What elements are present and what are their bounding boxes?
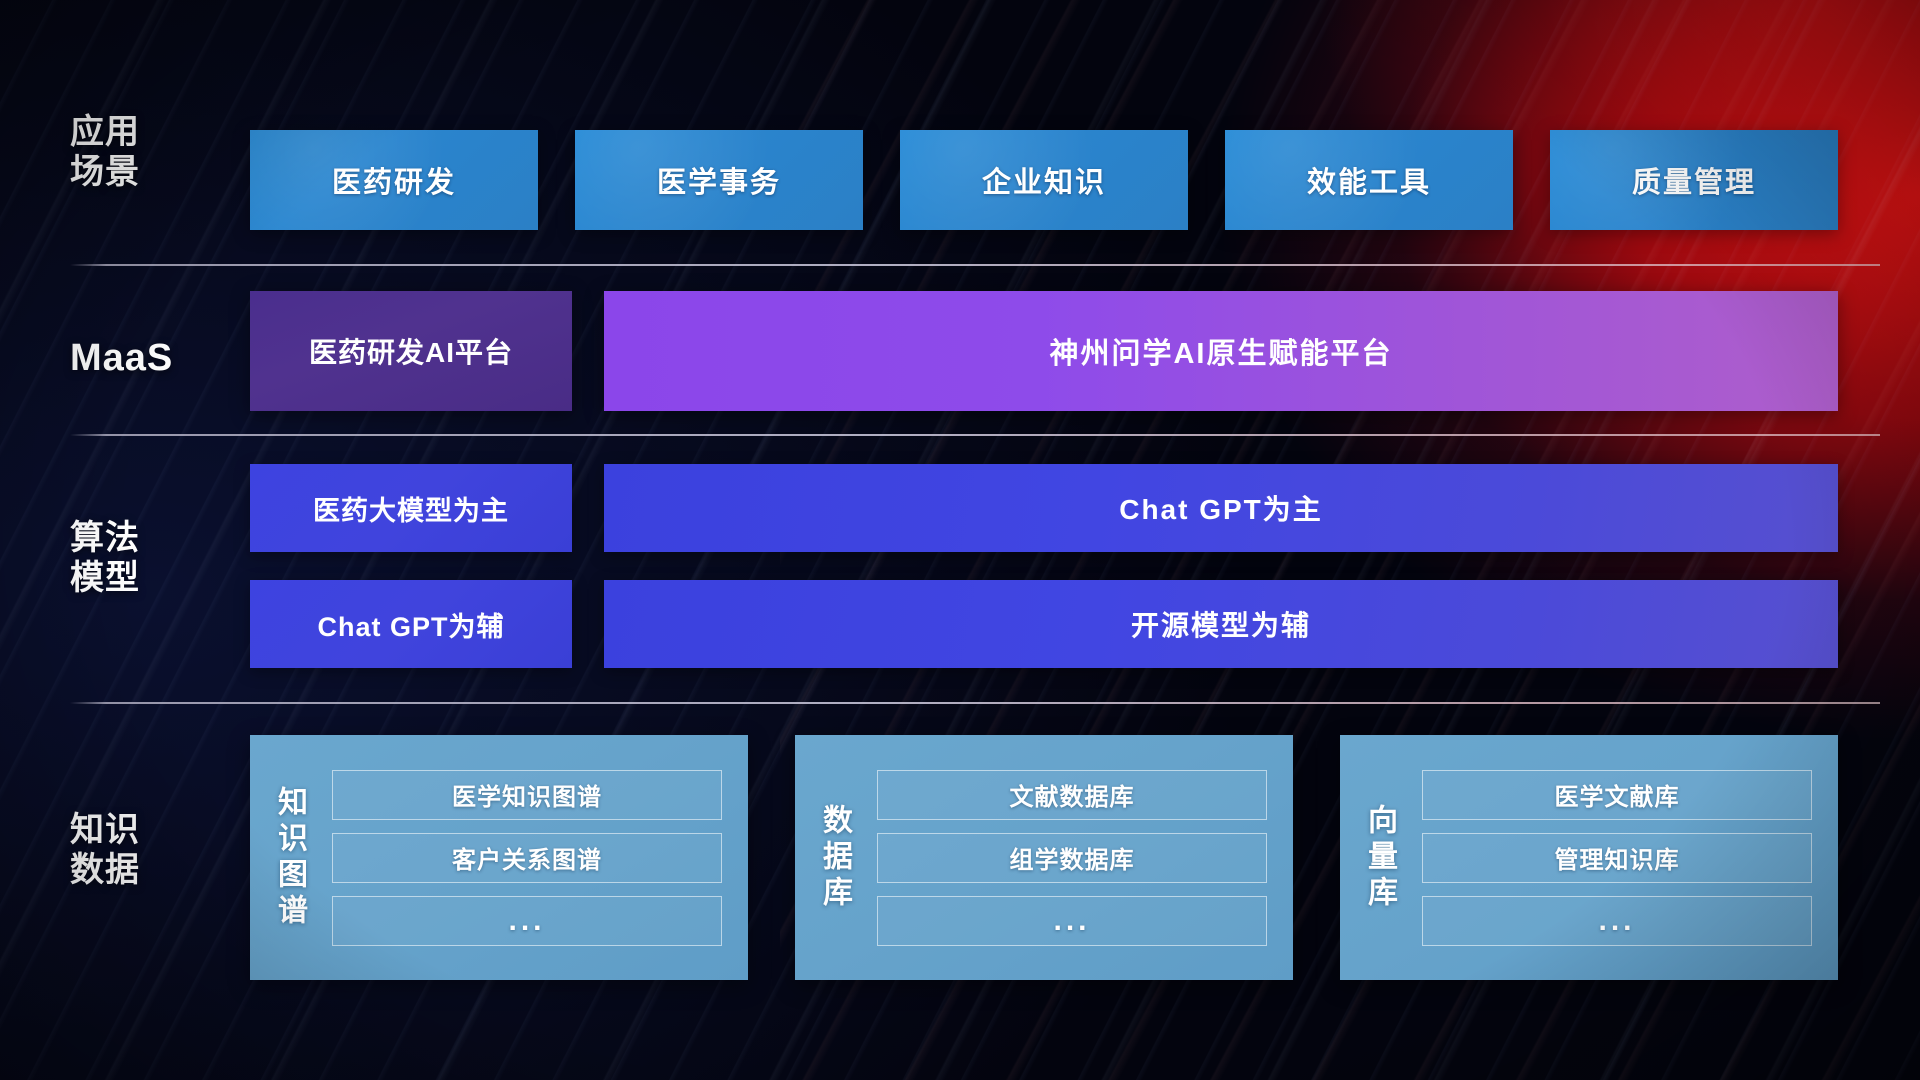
- algorithm-row1-left-card[interactable]: 医药大模型为主: [250, 464, 572, 552]
- application-card-2-label: 医学事务: [657, 159, 781, 201]
- layer-label-algorithm: 算法 模型: [70, 518, 220, 598]
- knowledge-card-vector-title: 向量库: [1340, 804, 1418, 912]
- knowledge-card-graph-items: 医学知识图谱 客户关系图谱 ...: [328, 752, 748, 964]
- application-card-3[interactable]: 企业知识: [900, 130, 1188, 230]
- knowledge-item-more[interactable]: ...: [1422, 896, 1812, 946]
- layer-label-line2: 场景: [70, 152, 220, 192]
- layer-label-application: 应用 场景: [70, 112, 220, 192]
- knowledge-item[interactable]: 客户关系图谱: [332, 833, 722, 883]
- knowledge-item[interactable]: 管理知识库: [1422, 833, 1812, 883]
- knowledge-item-more[interactable]: ...: [332, 896, 722, 946]
- maas-left-card-label: 医药研发AI平台: [309, 331, 513, 371]
- knowledge-card-database-title: 数据库: [795, 804, 873, 912]
- application-card-3-label: 企业知识: [982, 159, 1106, 201]
- diagram-canvas: 应用 场景 医药研发 医学事务 企业知识 效能工具 质量管理 MaaS 医药研发…: [0, 0, 1920, 1080]
- algorithm-row1-right-card[interactable]: Chat GPT为主: [604, 464, 1838, 552]
- layer-label-line1: 算法: [70, 518, 220, 558]
- maas-right-card-label: 神州问学AI原生赋能平台: [1049, 330, 1392, 372]
- algorithm-row1-left-label: 医药大模型为主: [313, 489, 509, 528]
- knowledge-item[interactable]: 组学数据库: [877, 833, 1267, 883]
- layer-label-line2: 数据: [70, 850, 220, 890]
- application-card-5[interactable]: 质量管理: [1550, 130, 1838, 230]
- knowledge-item[interactable]: 医学知识图谱: [332, 770, 722, 820]
- knowledge-item[interactable]: 医学文献库: [1422, 770, 1812, 820]
- knowledge-item-more[interactable]: ...: [877, 896, 1267, 946]
- divider-maas-algorithm: [70, 434, 1880, 436]
- application-card-4[interactable]: 效能工具: [1225, 130, 1513, 230]
- application-card-4-label: 效能工具: [1307, 159, 1431, 201]
- application-card-5-label: 质量管理: [1632, 159, 1756, 201]
- knowledge-card-database[interactable]: 数据库 文献数据库 组学数据库 ...: [795, 735, 1293, 980]
- knowledge-card-database-items: 文献数据库 组学数据库 ...: [873, 752, 1293, 964]
- maas-left-card[interactable]: 医药研发AI平台: [250, 291, 572, 411]
- layer-label-line2: 模型: [70, 558, 220, 598]
- layer-label-line1: 应用: [70, 112, 220, 152]
- application-card-2[interactable]: 医学事务: [575, 130, 863, 230]
- algorithm-row2-right-label: 开源模型为辅: [1131, 604, 1311, 644]
- algorithm-row2-left-card[interactable]: Chat GPT为辅: [250, 580, 572, 668]
- application-card-1-label: 医药研发: [332, 159, 456, 201]
- algorithm-row1-right-label: Chat GPT为主: [1119, 488, 1323, 528]
- layer-label-knowledge: 知识 数据: [70, 810, 220, 890]
- application-card-1[interactable]: 医药研发: [250, 130, 538, 230]
- algorithm-row2-right-card[interactable]: 开源模型为辅: [604, 580, 1838, 668]
- knowledge-card-graph[interactable]: 知识图谱 医学知识图谱 客户关系图谱 ...: [250, 735, 748, 980]
- layer-label-line1: MaaS: [70, 336, 220, 381]
- knowledge-card-graph-title: 知识图谱: [250, 786, 328, 930]
- divider-algorithm-knowledge: [70, 702, 1880, 704]
- maas-right-card[interactable]: 神州问学AI原生赋能平台: [604, 291, 1838, 411]
- layer-label-line1: 知识: [70, 810, 220, 850]
- knowledge-card-vector[interactable]: 向量库 医学文献库 管理知识库 ...: [1340, 735, 1838, 980]
- knowledge-item[interactable]: 文献数据库: [877, 770, 1267, 820]
- algorithm-row2-left-label: Chat GPT为辅: [317, 605, 504, 644]
- layer-label-maas: MaaS: [70, 336, 220, 381]
- divider-application-maas: [70, 264, 1880, 266]
- knowledge-card-vector-items: 医学文献库 管理知识库 ...: [1418, 752, 1838, 964]
